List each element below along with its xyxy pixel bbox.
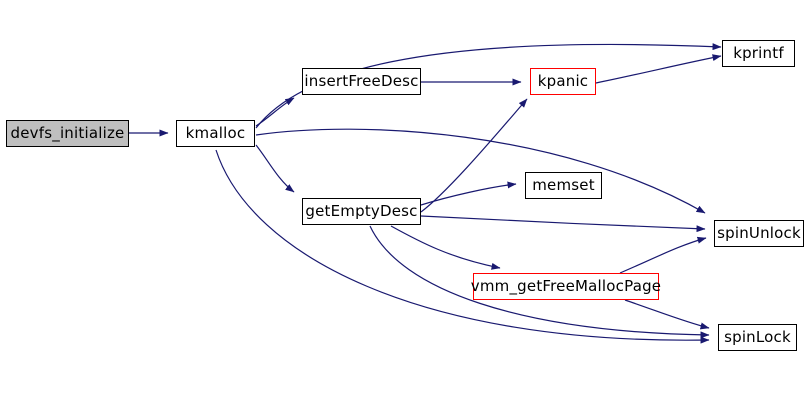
graph-node-getEmptyDesc[interactable]: getEmptyDesc — [302, 198, 421, 225]
call-edge-vmm_getFreeMallocPage-to-spinLock — [625, 300, 709, 328]
graph-node-kprintf[interactable]: kprintf — [722, 40, 795, 67]
call-edge-kpanic-to-kprintf — [596, 56, 721, 83]
graph-node-spinLock[interactable]: spinLock — [718, 324, 797, 351]
graph-node-label: spinLock — [724, 330, 791, 345]
graph-node-label: vmm_getFreeMallocPage — [471, 279, 661, 294]
call-graph-canvas: devfs_initializekmallocinsertFreeDesckpa… — [0, 0, 808, 407]
call-edge-vmm_getFreeMallocPage-to-spinUnlock — [620, 238, 706, 273]
graph-node-memset[interactable]: memset — [525, 172, 602, 199]
graph-node-kmalloc[interactable]: kmalloc — [176, 120, 255, 147]
call-edge-getEmptyDesc-to-memset — [421, 184, 516, 205]
call-edge-getEmptyDesc-to-spinUnlock — [421, 216, 705, 229]
call-edge-kmalloc-to-insertFreeDesc — [256, 98, 294, 126]
graph-node-label: kpanic — [538, 74, 589, 89]
call-edge-getEmptyDesc-to-kpanic — [421, 99, 527, 212]
call-edge-getEmptyDesc-to-vmm_getFreeMallocPage — [391, 226, 500, 268]
graph-node-vmm_getFreeMallocPage[interactable]: vmm_getFreeMallocPage — [473, 273, 659, 300]
graph-node-insertFreeDesc[interactable]: insertFreeDesc — [302, 68, 421, 95]
graph-node-label: memset — [532, 178, 595, 193]
graph-node-devfs_initialize[interactable]: devfs_initialize — [6, 120, 129, 147]
graph-node-label: spinUnlock — [717, 226, 801, 241]
graph-node-spinUnlock[interactable]: spinUnlock — [714, 220, 804, 247]
graph-node-label: getEmptyDesc — [305, 204, 417, 219]
graph-node-kpanic[interactable]: kpanic — [530, 68, 596, 95]
graph-node-label: insertFreeDesc — [304, 74, 418, 89]
call-edge-kmalloc-to-getEmptyDesc — [256, 145, 294, 192]
call-edge-kmalloc-to-spinLock — [216, 150, 709, 340]
graph-node-label: devfs_initialize — [11, 126, 125, 141]
graph-node-label: kprintf — [733, 46, 784, 61]
graph-node-label: kmalloc — [186, 126, 246, 141]
